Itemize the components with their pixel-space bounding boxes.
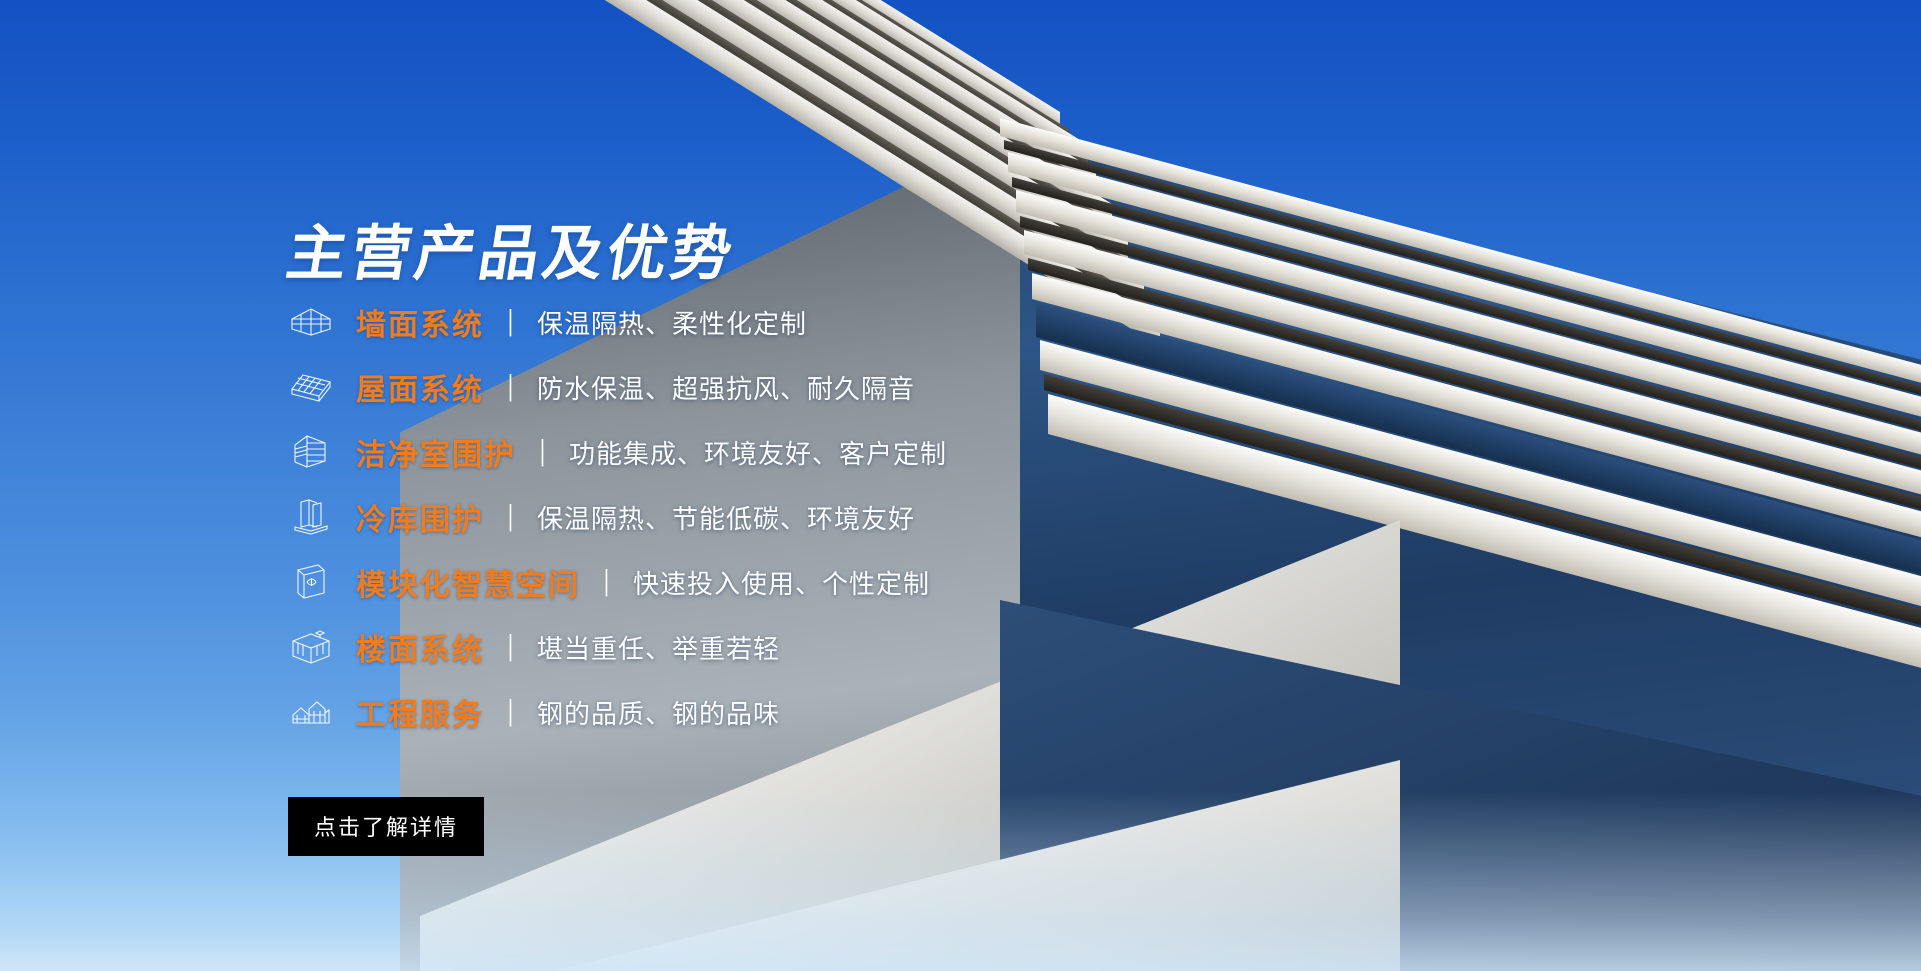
product-desc: 保温隔热、节能低碳、环境友好 [537, 499, 915, 536]
facade-band [1016, 190, 1921, 475]
list-item[interactable]: 墙面系统 丨 保温隔热、柔性化定制 [288, 302, 1008, 342]
facade-band [1036, 303, 1921, 600]
cornice-band [730, 0, 1060, 128]
cornice-band [538, 0, 1160, 347]
product-name: 屋面系统 [356, 365, 484, 409]
cornice-band [668, 0, 1104, 201]
list-item[interactable]: 模块化智慧空间 丨 快速投入使用、个性定制 [288, 562, 1008, 602]
product-list: 墙面系统 丨 保温隔热、柔性化定制 屋面系统 丨 防水保温、超强抗风、耐久隔音 [288, 302, 1008, 757]
list-item[interactable]: 冷库围护 丨 保温隔热、节能低碳、环境友好 [288, 497, 1008, 537]
separator: 丨 [504, 691, 518, 732]
separator: 丨 [600, 561, 614, 602]
product-desc: 保温隔热、柔性化定制 [537, 304, 807, 341]
cleanroom-enclosure-icon [288, 431, 334, 473]
cornice-band [636, 0, 1120, 237]
facade-band [1004, 140, 1921, 412]
facade-band [1000, 118, 1921, 399]
facade-band [1024, 230, 1921, 517]
facade-band [1040, 340, 1921, 633]
wall-system-icon [288, 301, 334, 343]
product-name: 楼面系统 [356, 625, 484, 669]
facade-band [1044, 374, 1921, 653]
cornice-band [682, 0, 1096, 189]
facade-band [1020, 216, 1921, 490]
floor-system-icon [288, 626, 334, 668]
product-desc: 防水保温、超强抗风、耐久隔音 [537, 369, 915, 406]
haze-overlay [400, 791, 1921, 971]
product-name: 工程服务 [356, 690, 484, 734]
separator: 丨 [504, 626, 518, 667]
list-item[interactable]: 屋面系统 丨 防水保温、超强抗风、耐久隔音 [288, 367, 1008, 407]
hero-banner: 主营产品及优势 墙面系统 丨 保温隔热、柔性化定制 [0, 0, 1921, 971]
list-item[interactable]: 工程服务 丨 钢的品质、钢的品味 [288, 692, 1008, 732]
modular-smart-space-icon [288, 561, 334, 603]
facade-band [1012, 177, 1921, 450]
product-desc: 快速投入使用、个性定制 [633, 564, 930, 601]
list-item[interactable]: 楼面系统 丨 堪当重任、举重若轻 [288, 627, 1008, 667]
lower-blue-wall [1000, 600, 1921, 971]
product-desc: 堪当重任、举重若轻 [537, 629, 780, 666]
cornice-band [696, 0, 1088, 168]
separator: 丨 [536, 431, 550, 472]
product-name: 模块化智慧空间 [356, 560, 580, 604]
learn-more-button[interactable]: 点击了解详情 [288, 797, 484, 856]
roof-system-icon [288, 366, 334, 408]
facade-band [1032, 273, 1921, 562]
facade-band [1048, 394, 1921, 697]
facade-band [1028, 258, 1921, 533]
separator: 丨 [504, 496, 518, 537]
cornice-band [652, 0, 1112, 224]
base-slab [400, 760, 1400, 971]
cold-storage-enclosure-icon [288, 496, 334, 538]
facade-band [1008, 152, 1921, 435]
building-right-facade [960, 120, 1921, 971]
cornice-band [720, 0, 1070, 137]
cornice-band [708, 0, 1080, 157]
engineering-service-icon [288, 691, 334, 733]
page-title: 主营产品及优势 [281, 205, 743, 292]
product-desc: 功能集成、环境友好、客户定制 [569, 434, 947, 471]
product-name: 墙面系统 [356, 300, 484, 344]
product-desc: 钢的品质、钢的品味 [537, 694, 780, 731]
separator: 丨 [504, 366, 518, 407]
product-name: 洁净室围护 [356, 430, 516, 474]
list-item[interactable]: 洁净室围护 丨 功能集成、环境友好、客户定制 [288, 432, 1008, 472]
product-name: 冷库围护 [356, 495, 484, 539]
separator: 丨 [504, 301, 518, 342]
